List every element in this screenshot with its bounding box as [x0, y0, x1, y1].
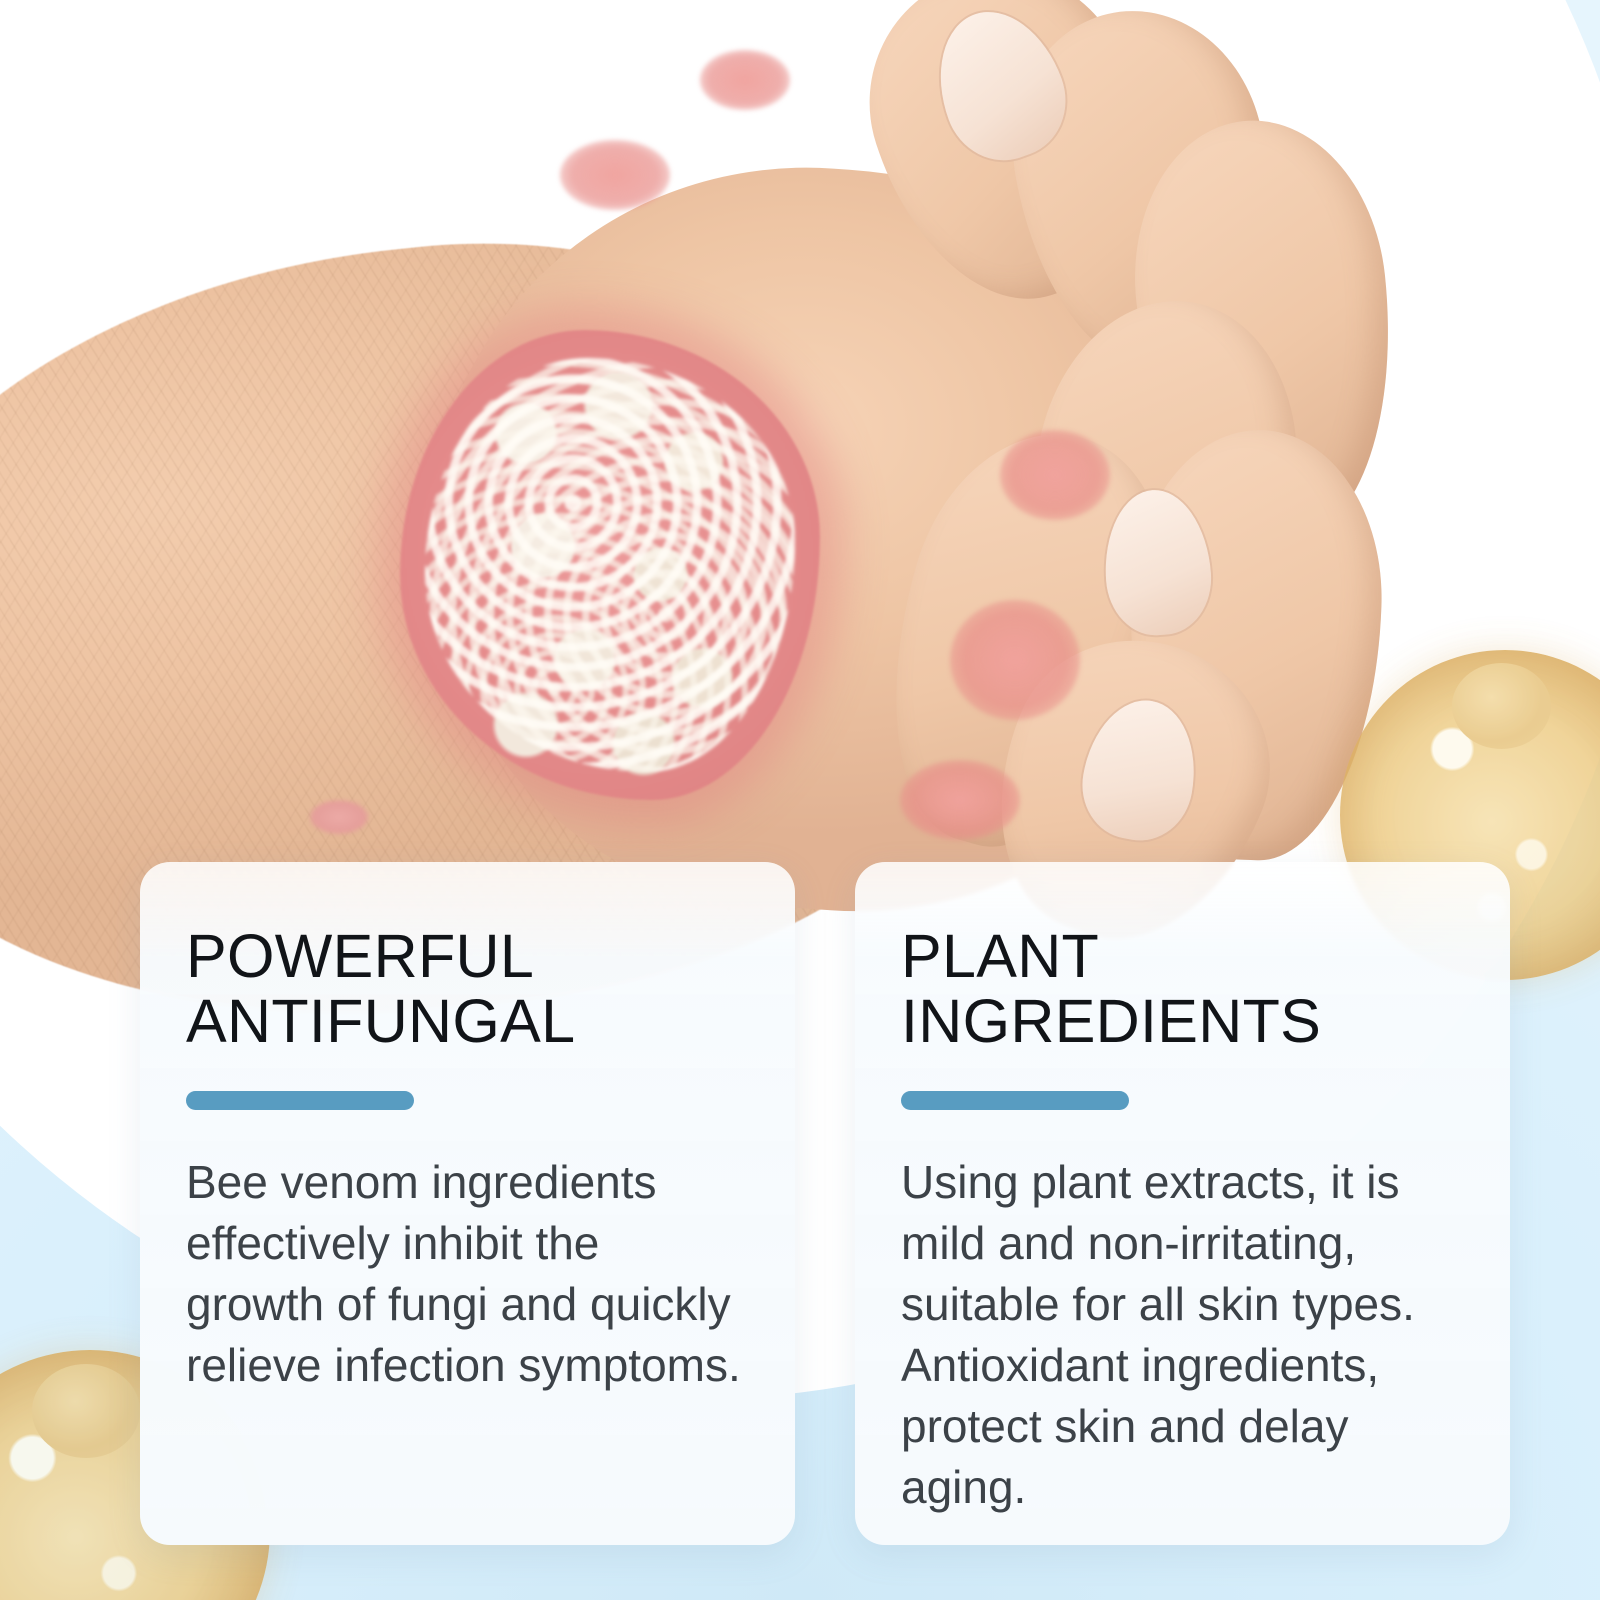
skin-lesion	[1000, 430, 1110, 520]
card-title: POWERFUL ANTIFUNGAL	[186, 924, 749, 1055]
feature-card-powerful-antifungal[interactable]: POWERFUL ANTIFUNGAL Bee venom ingredient…	[140, 862, 795, 1545]
skin-lesion	[700, 50, 790, 110]
skin-lesion	[560, 140, 670, 210]
feature-card-plant-ingredients[interactable]: PLANT INGREDIENTS Using plant extracts, …	[855, 862, 1510, 1545]
feature-cards: POWERFUL ANTIFUNGAL Bee venom ingredient…	[140, 862, 1510, 1545]
accent-bar	[186, 1091, 414, 1110]
skin-scaling-texture	[425, 358, 795, 772]
skin-lesion	[950, 600, 1080, 720]
card-body: Bee venom ingredients effectively inhibi…	[186, 1152, 749, 1397]
small-lesion-spot	[310, 800, 368, 834]
card-title: PLANT INGREDIENTS	[901, 924, 1464, 1055]
card-body: Using plant extracts, it is mild and non…	[901, 1152, 1464, 1519]
skin-lesion	[900, 760, 1020, 840]
accent-bar	[901, 1091, 1129, 1110]
